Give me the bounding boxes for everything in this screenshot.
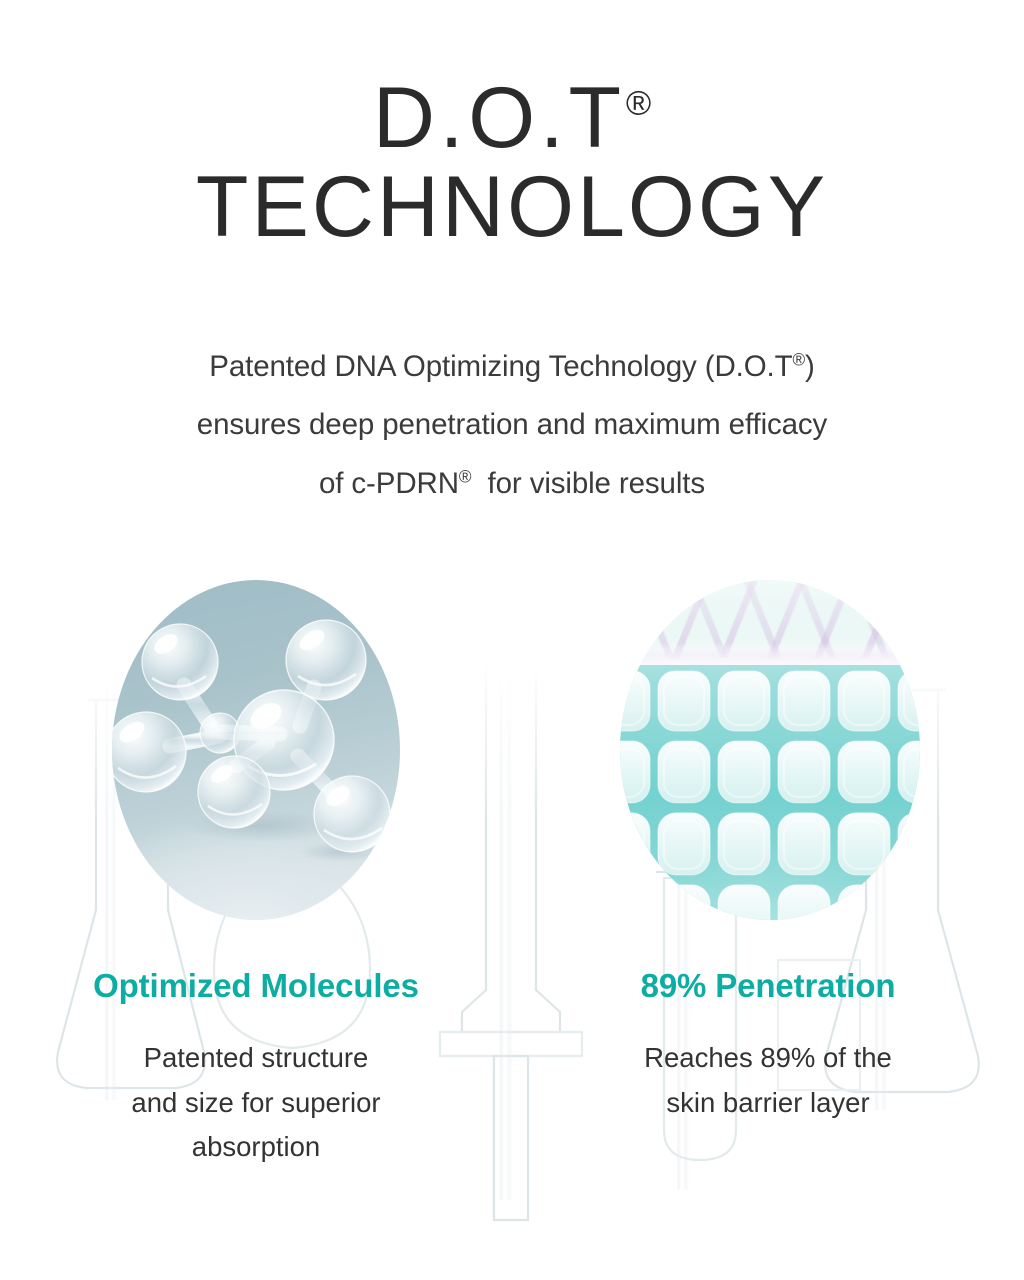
page-title: D.O.T® TECHNOLOGY [0,74,1024,253]
subtitle-line-1-text-b: ) [805,350,815,383]
subtitle-line-1-text-a: Patented DNA Optimizing Technology (D.O.… [209,350,792,383]
feature-description: Reaches 89% of the skin barrier layer [644,1036,892,1125]
headline-line-1: D.O.T® [0,74,1024,163]
subtitle-line-3: of c-PDRN® for visible results [0,455,1024,513]
barrier-lattice-icon [620,665,920,920]
headline-line-2: TECHNOLOGY [0,163,1024,252]
feature-description-line-1: Patented structure [131,1036,380,1081]
optimized-molecules-image [112,580,400,920]
feature-title: 89% Penetration [641,968,896,1004]
feature-optimized-molecules: Optimized Molecules Patented structure a… [0,580,512,1170]
feature-description-line-1: Reaches 89% of the [644,1036,892,1081]
headline-brand-text: D.O.T [373,70,626,166]
feature-description: Patented structure and size for superior… [131,1036,380,1170]
feature-description-line-3: absorption [131,1125,380,1170]
molecule-model-icon [112,580,400,920]
feature-title: Optimized Molecules [93,968,419,1004]
subtitle-line-2: ensures deep penetration and maximum eff… [0,396,1024,454]
feature-description-line-2: skin barrier layer [644,1081,892,1126]
page-subtitle: Patented DNA Optimizing Technology (D.O.… [0,338,1024,513]
registered-mark-icon: ® [459,467,472,486]
skin-penetration-image [620,580,920,920]
registered-mark-icon: ® [793,350,806,369]
feature-columns: Optimized Molecules Patented structure a… [0,580,1024,1170]
subtitle-line-3-text-b: for visible results [471,467,705,500]
feature-skin-penetration: 89% Penetration Reaches 89% of the skin … [512,580,1024,1170]
subtitle-line-1: Patented DNA Optimizing Technology (D.O.… [0,338,1024,396]
registered-mark-icon: ® [626,84,651,122]
subtitle-line-3-text-a: of c-PDRN [319,467,459,500]
feature-description-line-2: and size for superior [131,1081,380,1126]
